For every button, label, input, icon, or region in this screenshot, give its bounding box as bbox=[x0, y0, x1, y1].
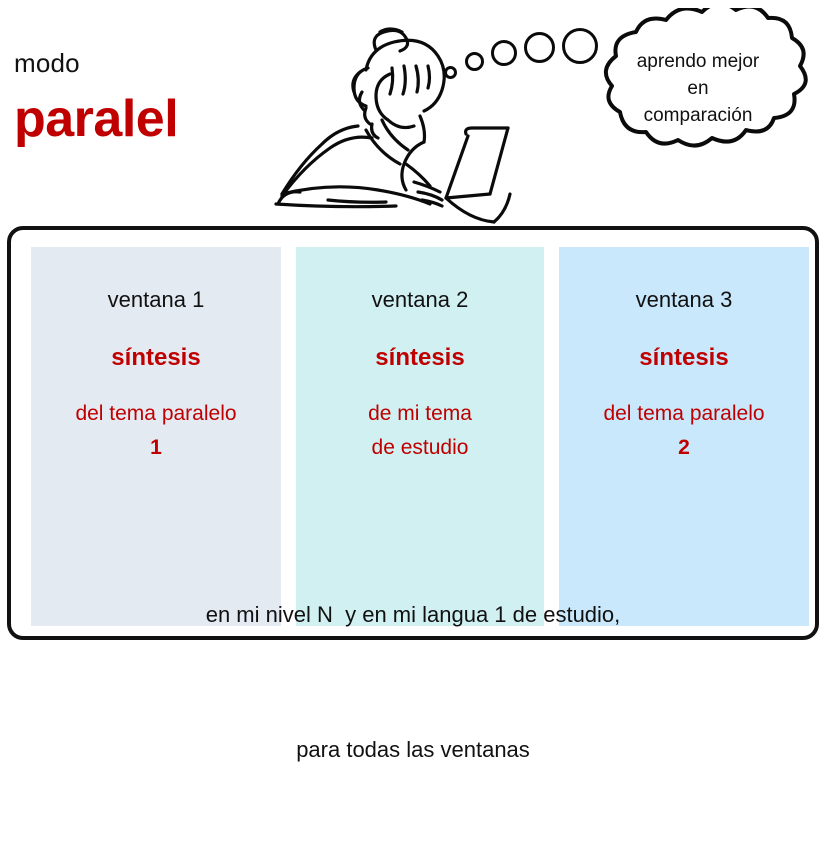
window-label-3: ventana 3 bbox=[559, 287, 809, 313]
mode-label: modo bbox=[14, 48, 80, 78]
window-label-1: ventana 1 bbox=[31, 287, 281, 313]
window-columns: ventana 1 síntesis del tema paralelo 1 v… bbox=[11, 230, 815, 636]
thought-dot-icon-3 bbox=[491, 40, 517, 66]
window-label-2: ventana 2 bbox=[296, 287, 544, 313]
window-column-1[interactable]: ventana 1 síntesis del tema paralelo 1 bbox=[31, 247, 281, 626]
synthesis-detail-3-line-2: 2 bbox=[559, 431, 809, 465]
thought-dot-icon-4 bbox=[524, 32, 555, 63]
synthesis-detail-1-line-2: 1 bbox=[31, 431, 281, 465]
synthesis-heading-3: síntesis bbox=[559, 344, 809, 372]
synthesis-heading-2: síntesis bbox=[296, 344, 544, 372]
windows-panel: ventana 1 síntesis del tema paralelo 1 v… bbox=[7, 226, 819, 640]
synthesis-detail-1: del tema paralelo 1 bbox=[31, 397, 281, 465]
thought-dot-icon-1 bbox=[444, 66, 457, 79]
thought-bubble: aprendo mejor en comparación bbox=[568, 8, 828, 168]
thought-bubble-line-3: comparación bbox=[598, 102, 798, 129]
thought-dot-icon-2 bbox=[465, 52, 484, 71]
synthesis-detail-2-line-1: de mi tema bbox=[296, 397, 544, 431]
synthesis-detail-3: del tema paralelo 2 bbox=[559, 397, 809, 465]
window-column-2[interactable]: ventana 2 síntesis de mi tema de estudio bbox=[296, 247, 544, 626]
header-area: modo paralel bbox=[0, 0, 834, 226]
synthesis-detail-2-line-2: de estudio bbox=[296, 431, 544, 465]
synthesis-heading-1: síntesis bbox=[31, 344, 281, 372]
synthesis-detail-2: de mi tema de estudio bbox=[296, 397, 544, 465]
window-column-3[interactable]: ventana 3 síntesis del tema paralelo 2 bbox=[559, 247, 809, 626]
synthesis-detail-3-line-1: del tema paralelo bbox=[559, 397, 809, 431]
thought-bubble-line-2: en bbox=[598, 75, 798, 102]
page-title: paralel bbox=[14, 88, 178, 150]
synthesis-detail-1-line-1: del tema paralelo bbox=[31, 397, 281, 431]
thought-bubble-text: aprendo mejor en comparación bbox=[598, 48, 798, 129]
panel-footer-line-2: para todas las ventanas bbox=[11, 727, 815, 772]
thought-bubble-line-1: aprendo mejor bbox=[598, 48, 798, 75]
